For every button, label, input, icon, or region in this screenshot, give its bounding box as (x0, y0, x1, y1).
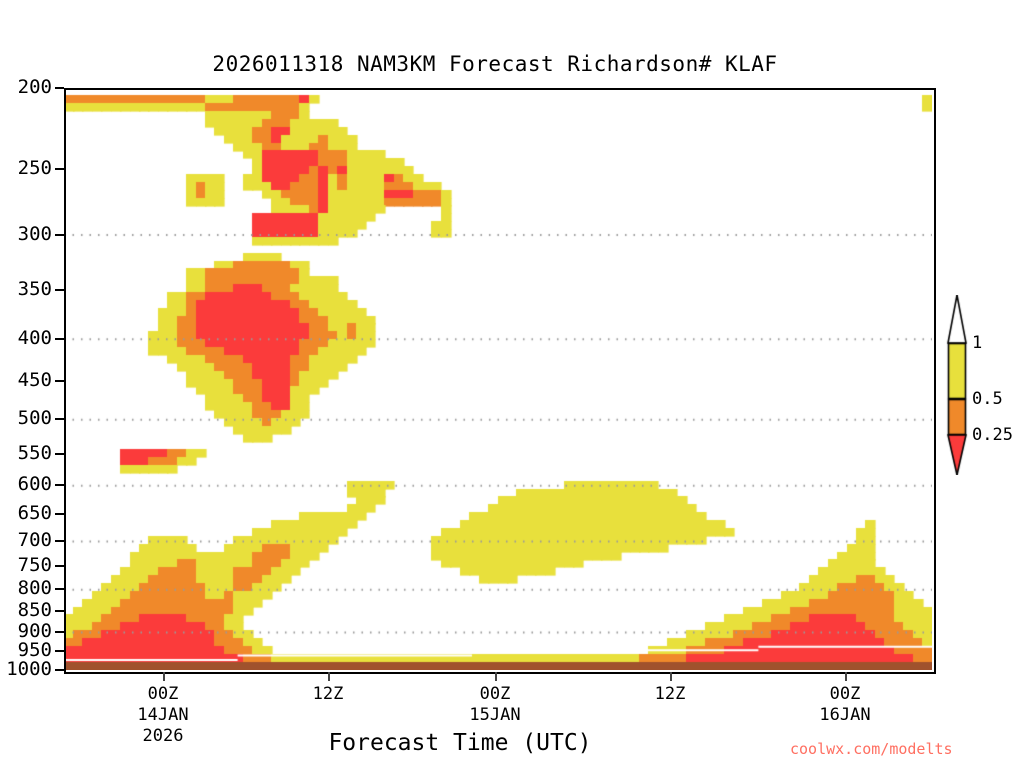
y-tick-mark (55, 669, 64, 671)
colorbar-label: 1 (972, 333, 982, 353)
y-tick-label: 250 (0, 157, 52, 179)
y-tick-label: 800 (0, 577, 52, 599)
x-tick-mark (670, 672, 672, 681)
plot-area (64, 88, 932, 670)
x-tick-label-line: 12Z (590, 684, 750, 705)
x-tick-label-line: 00Z (765, 684, 925, 705)
y-tick-mark (55, 610, 64, 612)
y-tick-label: 400 (0, 327, 52, 349)
y-tick-label: 650 (0, 502, 52, 524)
colorbar (944, 295, 970, 475)
chart-title-text: 2026011318 NAM3KM Forecast Richardson# K… (212, 52, 777, 76)
x-tick-label-line: 14JAN (83, 705, 243, 726)
y-tick-mark (55, 540, 64, 542)
colorbar-label: 0.25 (972, 425, 1013, 445)
y-tick-mark (55, 380, 64, 382)
y-tick-label: 600 (0, 473, 52, 495)
y-tick-label: 850 (0, 599, 52, 621)
y-tick-mark (55, 289, 64, 291)
y-tick-mark (55, 234, 64, 236)
y-tick-label: 700 (0, 529, 52, 551)
y-tick-label: 350 (0, 278, 52, 300)
y-tick-mark (55, 513, 64, 515)
y-tick-label: 200 (0, 76, 52, 98)
x-tick-label-line: 16JAN (765, 705, 925, 726)
chart-page: 2026011318 NAM3KM Forecast Richardson# K… (0, 0, 1024, 768)
watermark: coolwx.com/modelts (790, 740, 953, 758)
y-tick-mark (55, 484, 64, 486)
colorbar-label: 0.5 (972, 389, 1003, 409)
x-tick-mark (845, 672, 847, 681)
heatmap-canvas (64, 88, 932, 670)
y-tick-mark (55, 565, 64, 567)
y-tick-mark (55, 87, 64, 89)
x-tick-label-line: 00Z (415, 684, 575, 705)
y-tick-mark (55, 631, 64, 633)
y-tick-label: 550 (0, 442, 52, 464)
y-tick-mark (55, 418, 64, 420)
x-tick-mark (163, 672, 165, 681)
x-tick-label: 00Z16JAN (765, 684, 925, 726)
y-tick-label: 1000 (0, 658, 52, 680)
y-tick-mark (55, 168, 64, 170)
y-tick-mark (55, 650, 64, 652)
x-tick-label: 12Z (248, 684, 408, 705)
y-tick-mark (55, 588, 64, 590)
y-tick-label: 300 (0, 223, 52, 245)
x-tick-label-line: 12Z (248, 684, 408, 705)
x-tick-mark (328, 672, 330, 681)
y-tick-label: 750 (0, 554, 52, 576)
x-tick-label-line: 15JAN (415, 705, 575, 726)
y-tick-label: 450 (0, 369, 52, 391)
x-tick-mark (495, 672, 497, 681)
page-title: 2026011318 NAM3KM Forecast Richardson# K… (0, 52, 1024, 76)
x-tick-label: 12Z (590, 684, 750, 705)
x-tick-label: 00Z15JAN (415, 684, 575, 726)
x-tick-label-line: 00Z (83, 684, 243, 705)
y-tick-label: 500 (0, 407, 52, 429)
x-axis-title: Forecast Time (UTC) (180, 730, 740, 756)
y-tick-mark (55, 453, 64, 455)
y-tick-mark (55, 338, 64, 340)
